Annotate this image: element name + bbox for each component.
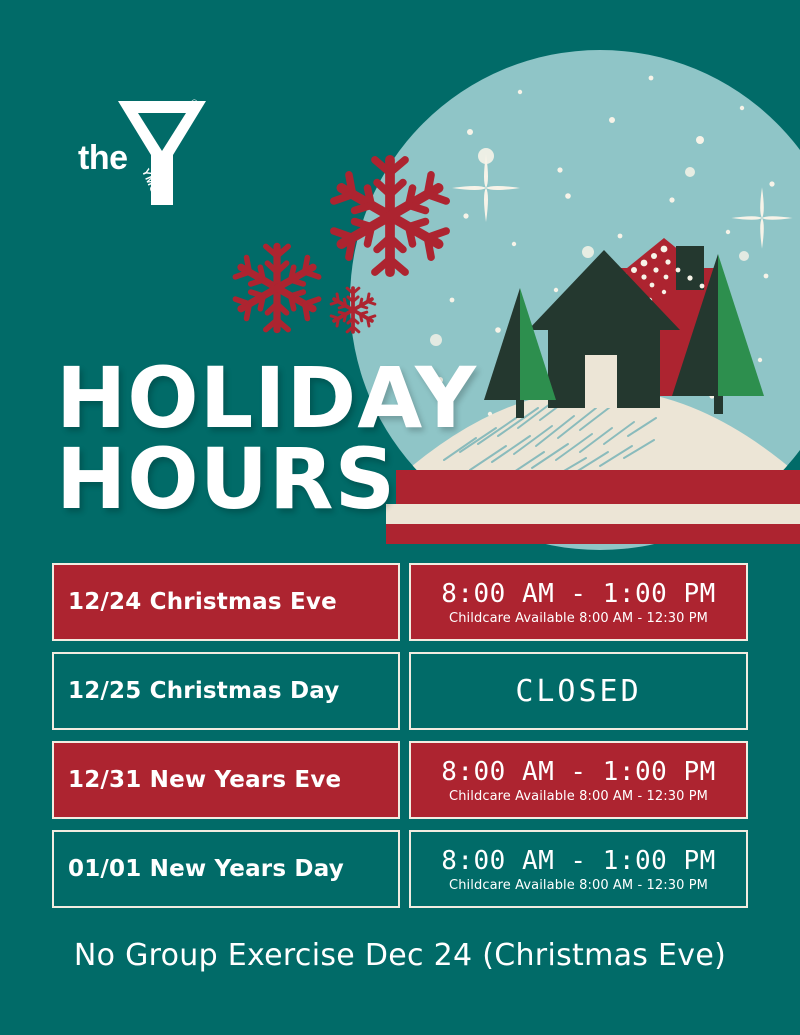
headline-line-2: HOURS — [56, 439, 477, 520]
hours-cell: 8:00 AM - 1:00 PM Childcare Available 8:… — [409, 830, 748, 908]
day-label: 12/25 Christmas Day — [68, 678, 339, 704]
table-row: 12/24 Christmas Eve 8:00 AM - 1:00 PM Ch… — [52, 563, 748, 641]
table-row: 12/25 Christmas Day CLOSED — [52, 652, 748, 730]
day-cell: 01/01 New Years Day — [52, 830, 400, 908]
hours-cell: CLOSED — [409, 652, 748, 730]
childcare-note: Childcare Available 8:00 AM - 12:30 PM — [449, 789, 708, 804]
holiday-hours-table: 12/24 Christmas Eve 8:00 AM - 1:00 PM Ch… — [52, 563, 748, 919]
day-label: 12/24 Christmas Eve — [68, 589, 337, 615]
pine-tree-left — [484, 288, 556, 418]
snowflake-medium — [235, 246, 318, 329]
headline-line-1: HOLIDAY — [56, 358, 477, 439]
table-row: 01/01 New Years Day 8:00 AM - 1:00 PM Ch… — [52, 830, 748, 908]
day-label: 12/31 New Years Eve — [68, 767, 341, 793]
hours-cell: 8:00 AM - 1:00 PM Childcare Available 8:… — [409, 563, 748, 641]
sparkle-star-left — [452, 154, 520, 222]
house-red — [600, 238, 728, 396]
day-cell: 12/24 Christmas Eve — [52, 563, 400, 641]
sparkle-star-right — [731, 187, 792, 248]
snowflake-large — [334, 160, 446, 272]
hours-text: 8:00 AM - 1:00 PM — [441, 579, 716, 609]
house-door — [585, 355, 617, 408]
hours-text: CLOSED — [515, 674, 641, 709]
logo-y-mark — [116, 95, 208, 210]
flyer-canvas: the ® YMCA HOLIDAY HOURS 12/24 Christmas… — [0, 0, 800, 1035]
snowflake-small — [331, 288, 375, 332]
page-title: HOLIDAY HOURS — [56, 358, 477, 521]
roof-snow — [610, 246, 705, 309]
house-dark — [528, 250, 680, 408]
hours-cell: 8:00 AM - 1:00 PM Childcare Available 8:… — [409, 741, 748, 819]
hours-text: 8:00 AM - 1:00 PM — [441, 846, 716, 876]
day-label: 01/01 New Years Day — [68, 856, 344, 882]
day-cell: 12/31 New Years Eve — [52, 741, 400, 819]
day-cell: 12/25 Christmas Day — [52, 652, 400, 730]
chimney — [676, 246, 704, 290]
footer-note: No Group Exercise Dec 24 (Christmas Eve) — [0, 938, 800, 973]
childcare-note: Childcare Available 8:00 AM - 12:30 PM — [449, 611, 708, 626]
registered-trademark-icon: ® — [191, 99, 198, 108]
hours-text: 8:00 AM - 1:00 PM — [441, 757, 716, 787]
ymca-logo: the ® YMCA — [78, 95, 213, 210]
snow-specks — [430, 76, 775, 417]
childcare-note: Childcare Available 8:00 AM - 12:30 PM — [449, 878, 708, 893]
table-row: 12/31 New Years Eve 8:00 AM - 1:00 PM Ch… — [52, 741, 748, 819]
pine-tree-right — [672, 254, 764, 414]
